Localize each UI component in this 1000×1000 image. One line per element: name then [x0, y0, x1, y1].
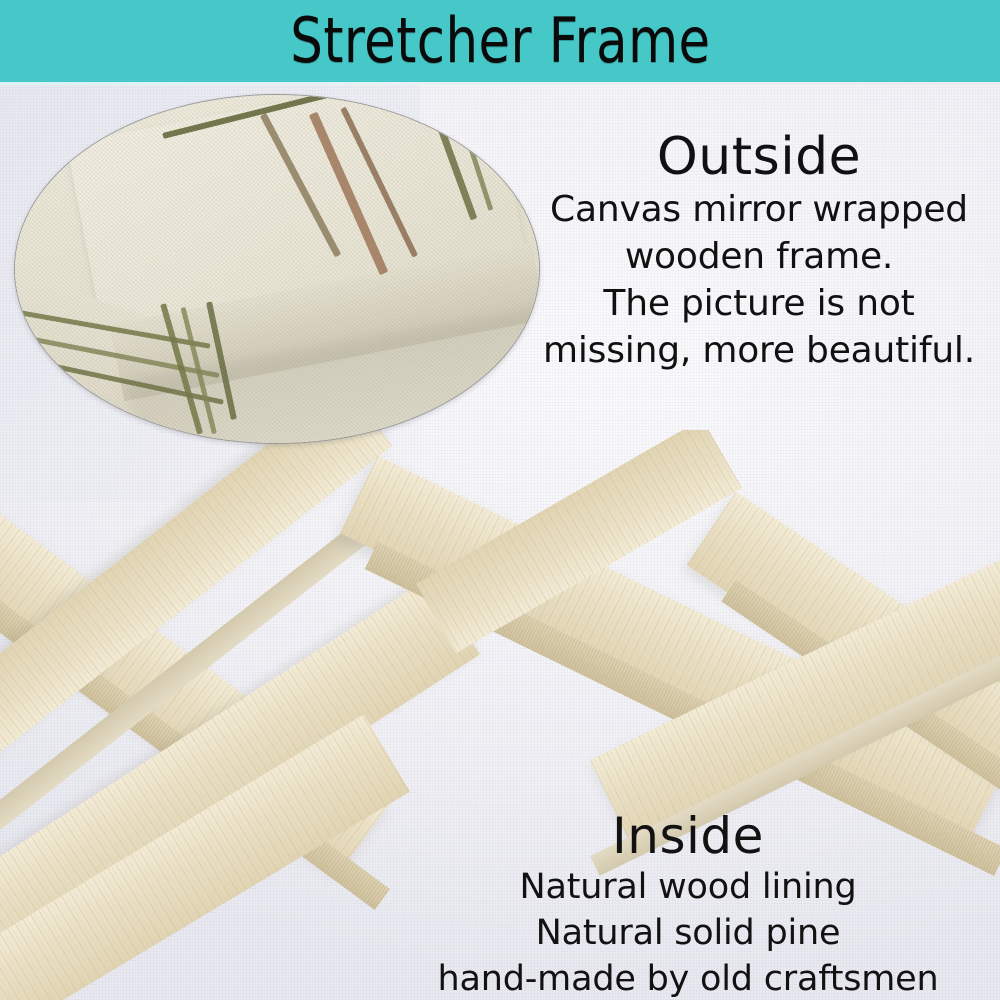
- outside-line-2: wooden frame.: [520, 233, 998, 280]
- oval-photo-image: [14, 94, 540, 444]
- inside-section: Inside Natural wood lining Natural solid…: [378, 808, 998, 1000]
- inside-line-3: hand-made by old craftsmen: [378, 956, 998, 1000]
- page-title: Stretcher Frame: [290, 10, 710, 72]
- outside-section: Outside Canvas mirror wrapped wooden fra…: [520, 128, 998, 374]
- oval-closeup-photo: [14, 94, 540, 444]
- outside-line-4: missing, more beautiful.: [520, 327, 998, 374]
- outside-heading: Outside: [520, 128, 998, 186]
- outside-line-1: Canvas mirror wrapped: [520, 186, 998, 233]
- header-banner: Stretcher Frame: [0, 0, 1000, 82]
- outside-line-3: The picture is not: [520, 280, 998, 327]
- product-infographic: Stretcher Frame Outside Canvas mirror wr…: [0, 0, 1000, 1000]
- header-underline: [0, 82, 1000, 85]
- inside-line-2: Natural solid pine: [378, 910, 998, 956]
- canvas-weave-texture: [14, 94, 540, 444]
- inside-line-1: Natural wood lining: [378, 864, 998, 910]
- inside-heading: Inside: [378, 808, 998, 864]
